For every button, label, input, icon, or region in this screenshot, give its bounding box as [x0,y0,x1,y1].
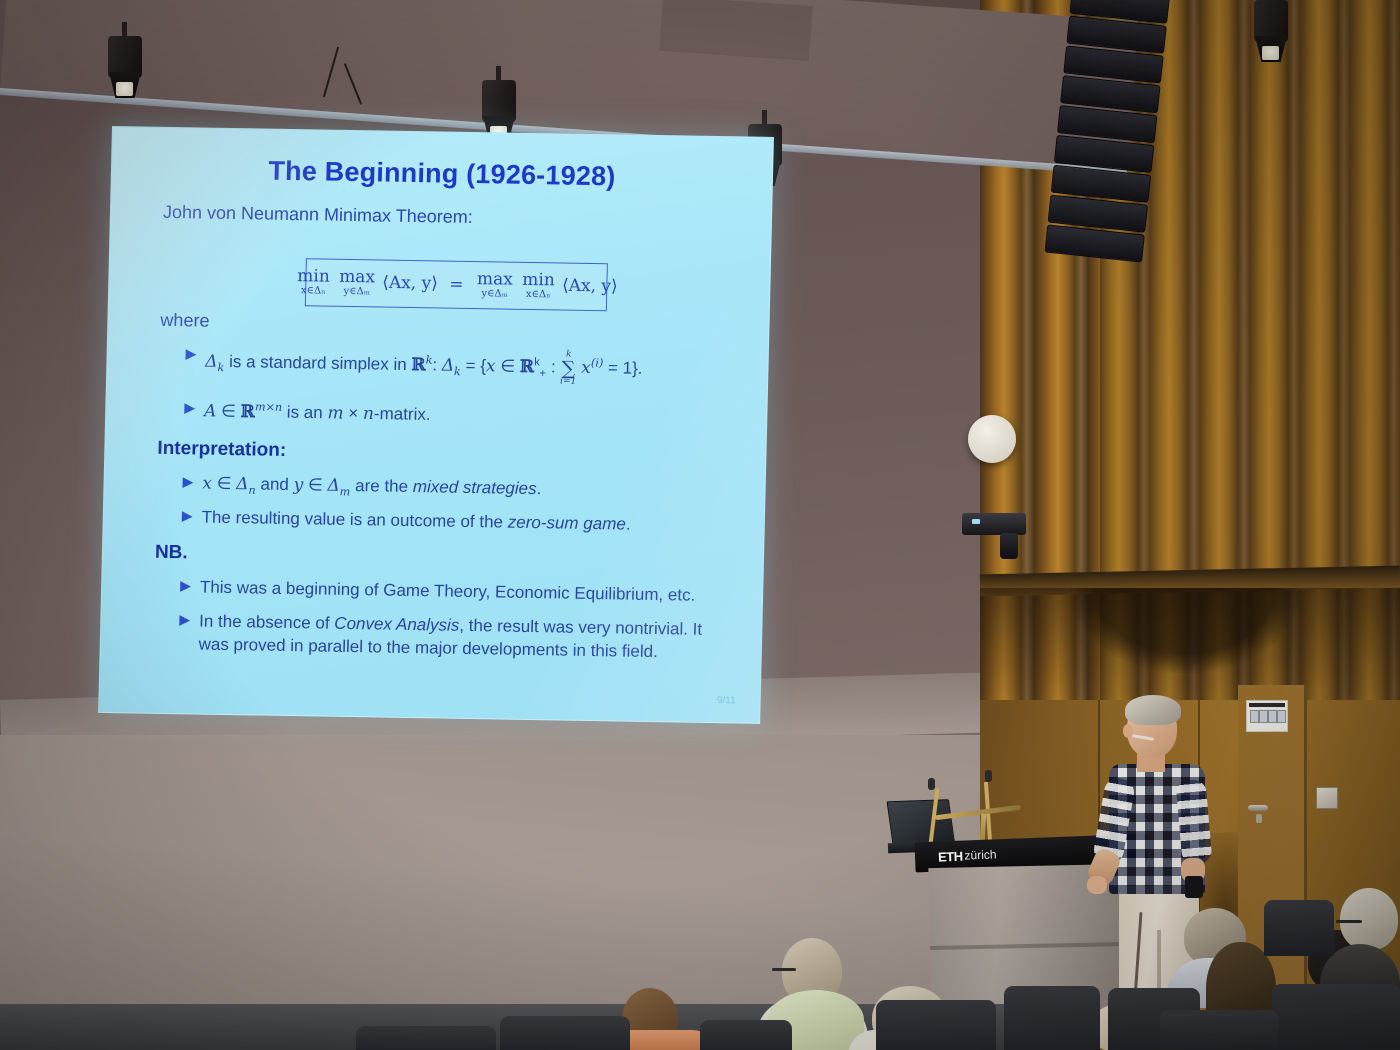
slide-page-number: 9/11 [717,695,736,706]
slide-bullet-mixed-strategies: ▶ x ∈ Δn and y ∈ Δm are the mixed strate… [182,472,743,506]
eth-logo-primary: ETH [938,848,963,864]
formula-left-expr: ⟨Ax, y⟩ [382,273,438,294]
presenter-remote-clicker [1185,876,1203,898]
auditorium-seat [500,1016,630,1050]
sign-panel [1259,710,1268,723]
formula-max-right: max y∈Δₘ [477,271,513,299]
slide-bullet-simplex: ▶ Δk is a standard simplex in ℝk: Δk = {… [185,344,746,388]
bullet-text: The resulting value is an outcome of the… [201,507,631,537]
eyeglasses-icon [1336,920,1362,923]
presenter-left-hand [1087,876,1107,894]
slide-bullet-game-theory: ▶ This was a beginning of Game Theory, E… [180,576,760,608]
slide-formula-box: min x∈Δₙ max y∈Δₘ ⟨Ax, y⟩ = max y∈Δₘ min [305,258,608,311]
slide-formula: min x∈Δₙ max y∈Δₘ ⟨Ax, y⟩ = max y∈Δₘ min [295,268,618,301]
door-handle[interactable] [1248,805,1268,811]
summation-operator: k ∑ i=1 [560,350,577,385]
wall-clock-icon [968,415,1016,463]
bullet-text: A ∈ ℝm×n is an m × n-matrix. [204,399,431,427]
auditorium-seat [1160,1010,1278,1050]
formula-relation: = [449,274,464,294]
bullet-text: In the absence of Convex Analysis, the r… [198,611,702,665]
presenter-right-arm [1175,779,1212,865]
slide-title: The Beginning (1926-1928) [112,153,773,195]
formula-max-left: max y∈Δₘ [339,269,375,297]
bullet-triangle-icon: ▶ [179,610,190,630]
ceiling-projector-icon [962,513,1026,535]
sign-panel [1277,710,1286,723]
eth-zurich-logo: ETH zürich [938,844,1025,865]
sign-panel [1268,710,1277,723]
formula-min-left: min x∈Δₙ [297,268,330,296]
bullet-text: x ∈ Δn and y ∈ Δm are the mixed strategi… [202,473,542,503]
auditorium-seat [356,1026,496,1050]
door-lock-icon[interactable] [1256,814,1262,823]
presenter-hair [1125,695,1181,725]
bullet-triangle-icon: ▶ [182,472,193,492]
auditorium-seat [876,1000,996,1050]
microphone-head-icon [985,770,992,782]
formula-min-right: min x∈Δₙ [522,272,555,300]
bullet-triangle-icon: ▶ [182,506,193,526]
auditorium-seat [700,1020,792,1050]
wood-wall-scallop-shadow [1070,588,1300,673]
projected-slide: The Beginning (1926-1928) John von Neuma… [98,126,774,724]
slide-bullet-matrix: ▶ A ∈ ℝm×n is an m × n-matrix. [184,398,745,432]
bullet-triangle-icon: ▶ [180,576,191,596]
slide-bullet-convex-analysis: ▶ In the absence of Convex Analysis, the… [179,610,760,665]
auditorium-seat [1272,984,1400,1050]
sign-header-bar [1249,703,1285,707]
slide-bullet-zero-sum: ▶ The resulting value is an outcome of t… [182,506,762,538]
eth-logo-secondary: zürich [964,847,997,862]
slide-interpretation-label: Interpretation: [157,438,286,462]
lecture-hall-photo: The Beginning (1926-1928) John von Neuma… [0,0,1400,1050]
auditorium-seat [1004,986,1100,1050]
bullet-text: This was a beginning of Game Theory, Eco… [200,577,696,608]
projector-lens-icon [1000,533,1018,559]
audience-head [1340,888,1398,950]
bullet-triangle-icon: ▶ [184,398,195,418]
bullet-text: Δk is a standard simplex in ℝk: Δk = {x … [205,345,643,387]
ceiling-access-panel [658,0,814,62]
slide-theorem-label: John von Neumann Minimax Theorem: [163,202,473,228]
bullet-triangle-icon: ▶ [185,344,196,364]
projector-status-led [972,519,980,524]
door-instruction-sign [1246,700,1288,732]
slide-nb-label: NB. [155,542,188,565]
sign-panel [1250,710,1259,723]
microphone-head-icon [928,778,935,790]
slide-where-label: where [160,310,210,332]
light-switch[interactable] [1316,787,1338,809]
eyeglasses-icon [772,968,796,971]
formula-right-expr: ⟨Ax, y⟩ [562,276,618,297]
auditorium-seat [1264,900,1334,956]
